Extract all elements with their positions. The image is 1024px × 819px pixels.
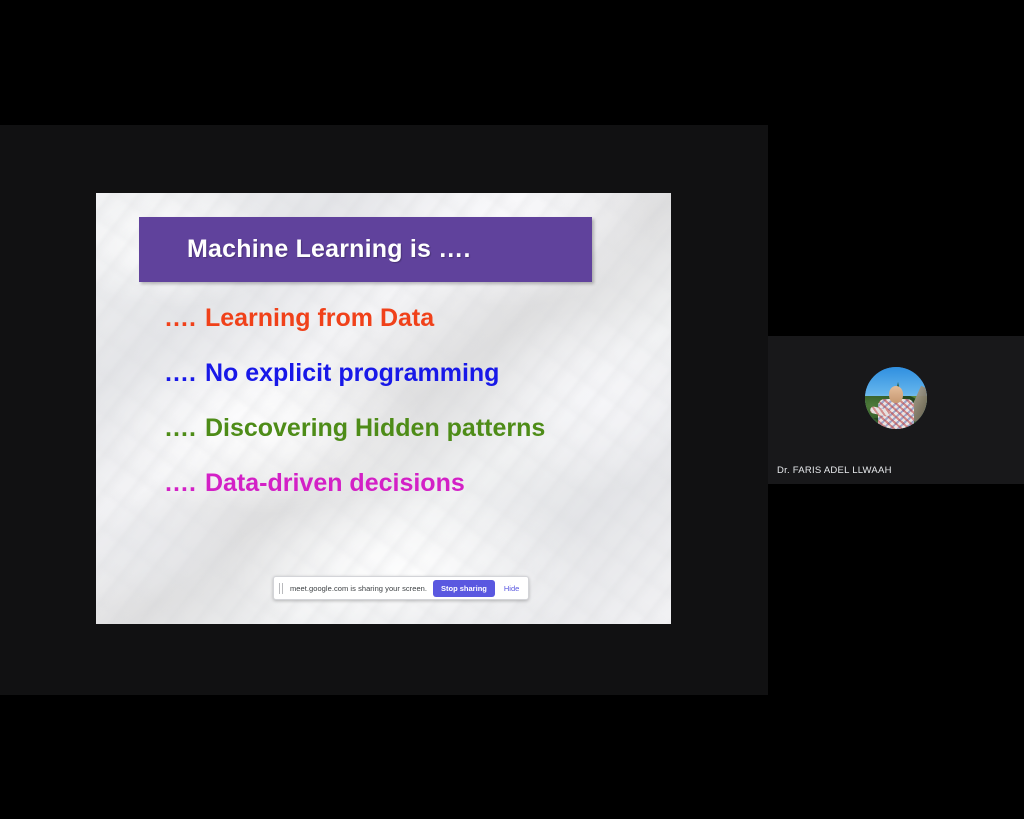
bullet-dots-2: ….: [164, 359, 196, 387]
slide-bullet-4: ….Data-driven decisions: [164, 471, 664, 496]
share-message: meet.google.com is sharing your screen.: [290, 584, 427, 593]
slide-bullet-list: ….Learning from Data ….No explicit progr…: [164, 306, 664, 526]
participant-tile[interactable]: Dr. FARIS ADEL LLWAAH: [768, 336, 1024, 484]
participant-name-label: Dr. FARIS ADEL LLWAAH: [777, 465, 892, 476]
bullet-dots-3: ….: [164, 414, 196, 442]
bullet-dots-4: ….: [164, 469, 196, 497]
slide-title-banner: Machine Learning is ….: [139, 217, 592, 282]
bullet-dots-1: ….: [164, 304, 196, 332]
slide-bullet-3: ….Discovering Hidden patterns: [164, 416, 664, 441]
bullet-text-3: Discovering Hidden patterns: [205, 414, 545, 442]
bullet-text-2: No explicit programming: [205, 359, 499, 387]
meet-screen-share-view: Machine Learning is …. ….Learning from D…: [0, 0, 1024, 819]
presented-slide[interactable]: Machine Learning is …. ….Learning from D…: [96, 193, 671, 624]
slide-bullet-1: ….Learning from Data: [164, 306, 664, 331]
stop-sharing-button[interactable]: Stop sharing: [433, 580, 495, 597]
bullet-text-4: Data-driven decisions: [205, 469, 465, 497]
participant-avatar: [865, 367, 927, 429]
hide-button[interactable]: Hide: [501, 584, 522, 593]
drag-handle-icon[interactable]: [279, 583, 284, 594]
slide-title: Machine Learning is ….: [187, 235, 471, 264]
slide-bullet-2: ….No explicit programming: [164, 361, 664, 386]
screen-share-notification-bar[interactable]: meet.google.com is sharing your screen. …: [273, 576, 529, 600]
bullet-text-1: Learning from Data: [205, 304, 434, 332]
avatar-person-head: [889, 386, 903, 403]
